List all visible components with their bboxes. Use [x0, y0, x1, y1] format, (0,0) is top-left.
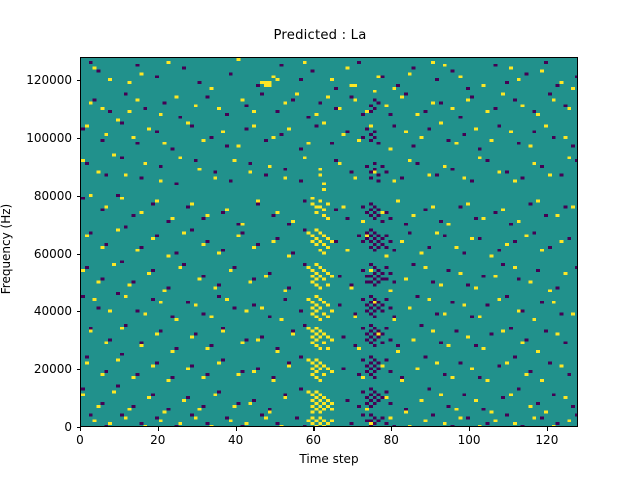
- y-tick-label: 80000: [72, 189, 110, 203]
- x-axis-label: Time step: [80, 452, 578, 466]
- x-tick-mark: [158, 427, 159, 431]
- x-tick-mark: [391, 427, 392, 431]
- x-tick-mark: [547, 427, 548, 431]
- x-tick-mark: [80, 427, 81, 431]
- y-tick-label: 20000: [72, 362, 110, 376]
- y-tick-label: 0: [72, 420, 80, 434]
- heatmap-plot-area: [80, 57, 578, 427]
- x-tick-label: 60: [306, 433, 321, 447]
- x-tick-label: 120: [535, 433, 558, 447]
- y-tick-label: 40000: [72, 304, 110, 318]
- x-tick-mark: [313, 427, 314, 431]
- spectrogram-image: [81, 58, 578, 427]
- x-tick-label: 20: [150, 433, 165, 447]
- y-tick-label: 120000: [72, 73, 118, 87]
- y-tick-label: 60000: [72, 247, 110, 261]
- y-tick-label: 100000: [72, 131, 118, 145]
- x-tick-label: 40: [228, 433, 243, 447]
- x-tick-mark: [236, 427, 237, 431]
- x-tick-mark: [469, 427, 470, 431]
- figure-canvas: Predicted : La Time step Frequency (Hz) …: [0, 0, 640, 480]
- x-tick-label: 100: [458, 433, 481, 447]
- y-axis-label: Frequency (Hz): [0, 149, 13, 349]
- x-tick-label: 80: [384, 433, 399, 447]
- x-tick-label: 0: [76, 433, 84, 447]
- chart-title: Predicted : La: [0, 28, 640, 43]
